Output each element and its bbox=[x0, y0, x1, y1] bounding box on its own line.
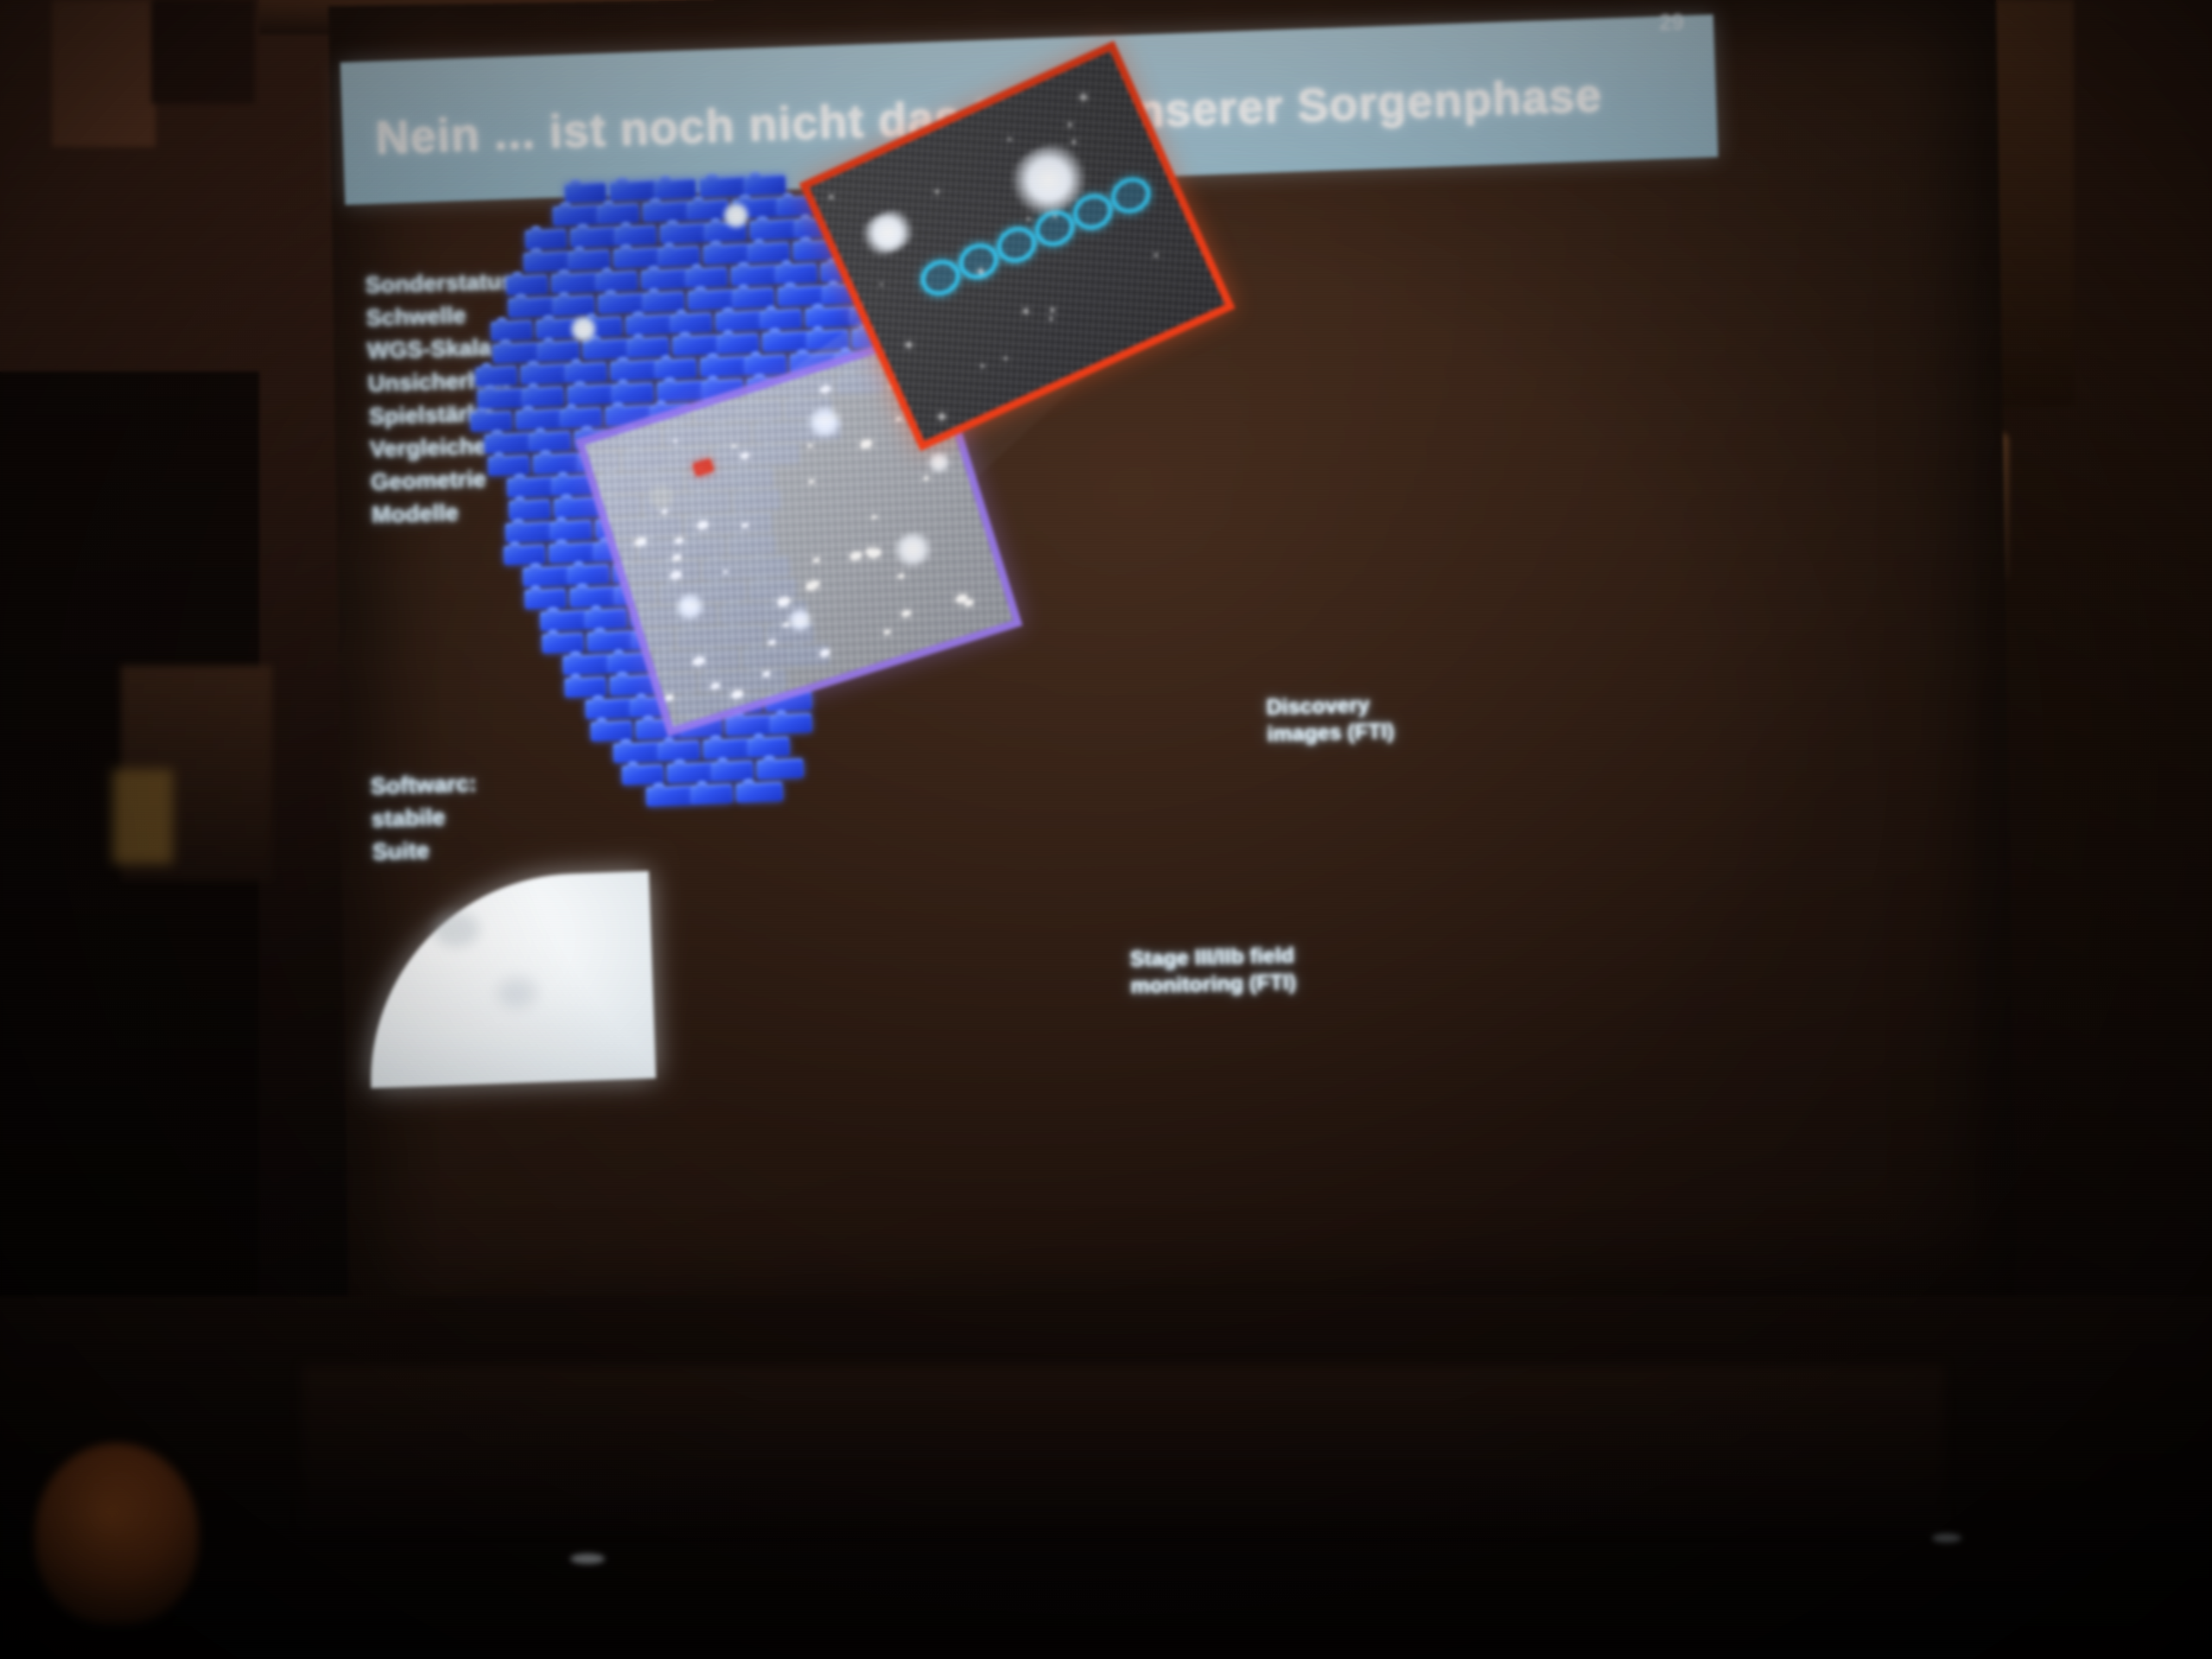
brick bbox=[524, 588, 567, 609]
brick bbox=[732, 288, 774, 308]
brick bbox=[735, 782, 783, 803]
room-wall-panel-b bbox=[151, 0, 255, 104]
panel-speck bbox=[723, 569, 728, 574]
panel-speck bbox=[696, 519, 709, 530]
red-marker-dot bbox=[692, 458, 715, 477]
panel-speck bbox=[1007, 137, 1012, 142]
panel-speck bbox=[819, 648, 831, 658]
label-stage-field: Stage III/IIb field monitoring (FTI) bbox=[1129, 943, 1296, 1001]
panel-speck bbox=[829, 194, 835, 200]
panel-hotspot bbox=[852, 202, 924, 264]
label-line: images (FTI) bbox=[1267, 718, 1395, 748]
brick bbox=[775, 264, 817, 284]
panel-hotspot bbox=[887, 527, 939, 572]
brick bbox=[626, 315, 673, 335]
panel-speck bbox=[883, 629, 891, 635]
slide-content: Nein ... ist noch nicht das Ende unserer… bbox=[324, 0, 1748, 1028]
dome-crater bbox=[432, 912, 480, 948]
brick bbox=[658, 741, 700, 761]
brick bbox=[491, 320, 533, 340]
brick bbox=[657, 380, 704, 401]
brick bbox=[654, 178, 696, 199]
panel-hotspot bbox=[670, 589, 710, 625]
brick bbox=[568, 250, 610, 270]
label-discovery: Discovery images (FTI) bbox=[1266, 691, 1395, 748]
brick bbox=[645, 785, 693, 806]
brick bbox=[568, 564, 610, 585]
label-line: Stage III/IIb field bbox=[1129, 943, 1295, 974]
panel-speck bbox=[849, 550, 863, 562]
brick bbox=[655, 358, 697, 378]
panel-speck bbox=[980, 364, 984, 368]
panel-speck bbox=[762, 671, 771, 677]
panel-hotspot bbox=[924, 448, 955, 476]
panel-speck bbox=[767, 639, 776, 645]
panel-speck bbox=[812, 557, 820, 563]
panel-speck bbox=[938, 412, 947, 422]
panel-speck bbox=[740, 452, 750, 461]
brick bbox=[614, 225, 657, 245]
brick bbox=[690, 784, 733, 804]
brick bbox=[487, 455, 530, 476]
brick bbox=[756, 759, 804, 779]
audience-head-silhouette bbox=[35, 1443, 199, 1624]
brick bbox=[522, 386, 564, 407]
brick bbox=[610, 359, 658, 380]
brick bbox=[671, 313, 713, 334]
projection-screen: Nein ... ist noch nicht das Ende unserer… bbox=[328, 0, 2017, 1337]
panel-speck bbox=[1022, 308, 1029, 315]
brick bbox=[745, 354, 787, 375]
panel-speck bbox=[1049, 316, 1053, 321]
table-glint bbox=[570, 1554, 605, 1564]
brick bbox=[702, 738, 750, 759]
table-surface bbox=[302, 1365, 1944, 1529]
brick bbox=[609, 180, 657, 200]
dome-crater bbox=[497, 977, 537, 1010]
panel-speck bbox=[871, 515, 878, 520]
brick bbox=[506, 477, 554, 498]
brick bbox=[504, 544, 546, 565]
panel-speck bbox=[934, 188, 940, 194]
panel-speck bbox=[1067, 122, 1073, 128]
panel-speck bbox=[1071, 139, 1077, 145]
brick bbox=[659, 223, 707, 244]
brick bbox=[612, 383, 654, 404]
brick bbox=[529, 431, 571, 452]
brick bbox=[717, 333, 760, 353]
brick bbox=[585, 698, 632, 719]
panel-speck bbox=[897, 573, 905, 579]
brick bbox=[553, 295, 595, 315]
brick bbox=[699, 176, 747, 197]
panel-speck bbox=[670, 569, 683, 580]
brick bbox=[552, 205, 600, 226]
brick-highlight bbox=[721, 200, 751, 231]
brick bbox=[532, 453, 580, 474]
brick bbox=[569, 226, 617, 247]
brick bbox=[563, 654, 610, 675]
panel-speck bbox=[674, 537, 684, 545]
panel-speck bbox=[819, 385, 831, 394]
brick bbox=[642, 201, 690, 222]
panel-speck bbox=[732, 444, 737, 448]
panel-hotspot bbox=[801, 401, 849, 442]
brick bbox=[523, 566, 570, 587]
brick bbox=[595, 270, 638, 291]
brick bbox=[484, 433, 531, 454]
brick bbox=[565, 362, 607, 383]
brick bbox=[666, 762, 714, 783]
label-line: monitoring (FTI) bbox=[1130, 969, 1296, 1001]
panel-speck bbox=[664, 694, 675, 702]
brick bbox=[744, 175, 786, 195]
panel-speck bbox=[1050, 308, 1056, 314]
brick bbox=[470, 410, 512, 431]
panel-speck bbox=[1003, 356, 1007, 360]
panel-speck bbox=[859, 438, 873, 449]
panel-speck bbox=[805, 581, 818, 591]
white-quarter-dome-shape bbox=[364, 871, 656, 1088]
brick bbox=[505, 522, 553, 543]
panel-speck bbox=[661, 509, 669, 515]
panel-speck bbox=[808, 479, 815, 484]
brick bbox=[685, 267, 728, 288]
panel-speck bbox=[741, 523, 749, 529]
brick bbox=[564, 182, 607, 203]
brick bbox=[807, 329, 849, 350]
brick bbox=[715, 310, 763, 331]
panel-speck bbox=[776, 595, 791, 607]
brick bbox=[475, 365, 518, 386]
panel-speck bbox=[905, 340, 912, 348]
table-glint bbox=[1932, 1534, 1961, 1542]
brick bbox=[542, 632, 584, 653]
brick bbox=[587, 631, 634, 652]
brick bbox=[700, 356, 747, 377]
brick bbox=[747, 242, 790, 263]
panel-speck bbox=[880, 283, 883, 286]
room-wall-swatch bbox=[112, 769, 173, 864]
brick bbox=[515, 409, 563, 429]
panel-speck bbox=[671, 553, 683, 562]
slide-number-badge: 29 bbox=[1659, 9, 1685, 36]
brick bbox=[730, 264, 778, 285]
photograph-of-projection: Nein ... ist noch nicht das Ende unserer… bbox=[0, 0, 2212, 1659]
brick bbox=[613, 742, 660, 763]
panel-speck bbox=[673, 439, 678, 443]
panel-speck bbox=[709, 682, 721, 690]
brick bbox=[520, 364, 568, 385]
brick bbox=[540, 610, 588, 631]
brick bbox=[597, 203, 639, 224]
panel-speck bbox=[692, 656, 706, 667]
brick bbox=[627, 337, 670, 358]
brick bbox=[551, 272, 599, 293]
room-wall-panel-a bbox=[52, 0, 156, 147]
brick bbox=[640, 269, 688, 289]
panel-speck bbox=[923, 475, 930, 480]
brick bbox=[550, 520, 592, 541]
panel-speck bbox=[730, 689, 744, 700]
brick bbox=[658, 245, 700, 266]
brick bbox=[564, 677, 607, 697]
panel-speck bbox=[900, 609, 912, 618]
brick bbox=[506, 275, 549, 296]
brick bbox=[477, 388, 524, 409]
cyan-badge bbox=[1106, 172, 1156, 219]
brick bbox=[537, 340, 580, 361]
panel-hotspot bbox=[783, 605, 817, 635]
panel-speck bbox=[1079, 92, 1089, 102]
brick bbox=[725, 715, 772, 735]
brick bbox=[508, 499, 550, 520]
brick bbox=[560, 407, 602, 428]
brick bbox=[749, 219, 797, 240]
brick bbox=[804, 307, 852, 327]
brick bbox=[567, 385, 614, 405]
brick bbox=[643, 291, 685, 312]
brick bbox=[760, 308, 802, 329]
brick bbox=[770, 713, 812, 734]
panel-speck bbox=[1154, 253, 1158, 257]
brick bbox=[549, 543, 596, 563]
brick bbox=[585, 608, 627, 629]
panel-speck bbox=[808, 443, 813, 448]
brick bbox=[524, 229, 567, 250]
label-line: Discovery bbox=[1266, 691, 1394, 721]
brick bbox=[569, 587, 617, 607]
panel-speck bbox=[895, 416, 902, 422]
panel-speck bbox=[633, 537, 647, 548]
brick bbox=[747, 736, 790, 757]
